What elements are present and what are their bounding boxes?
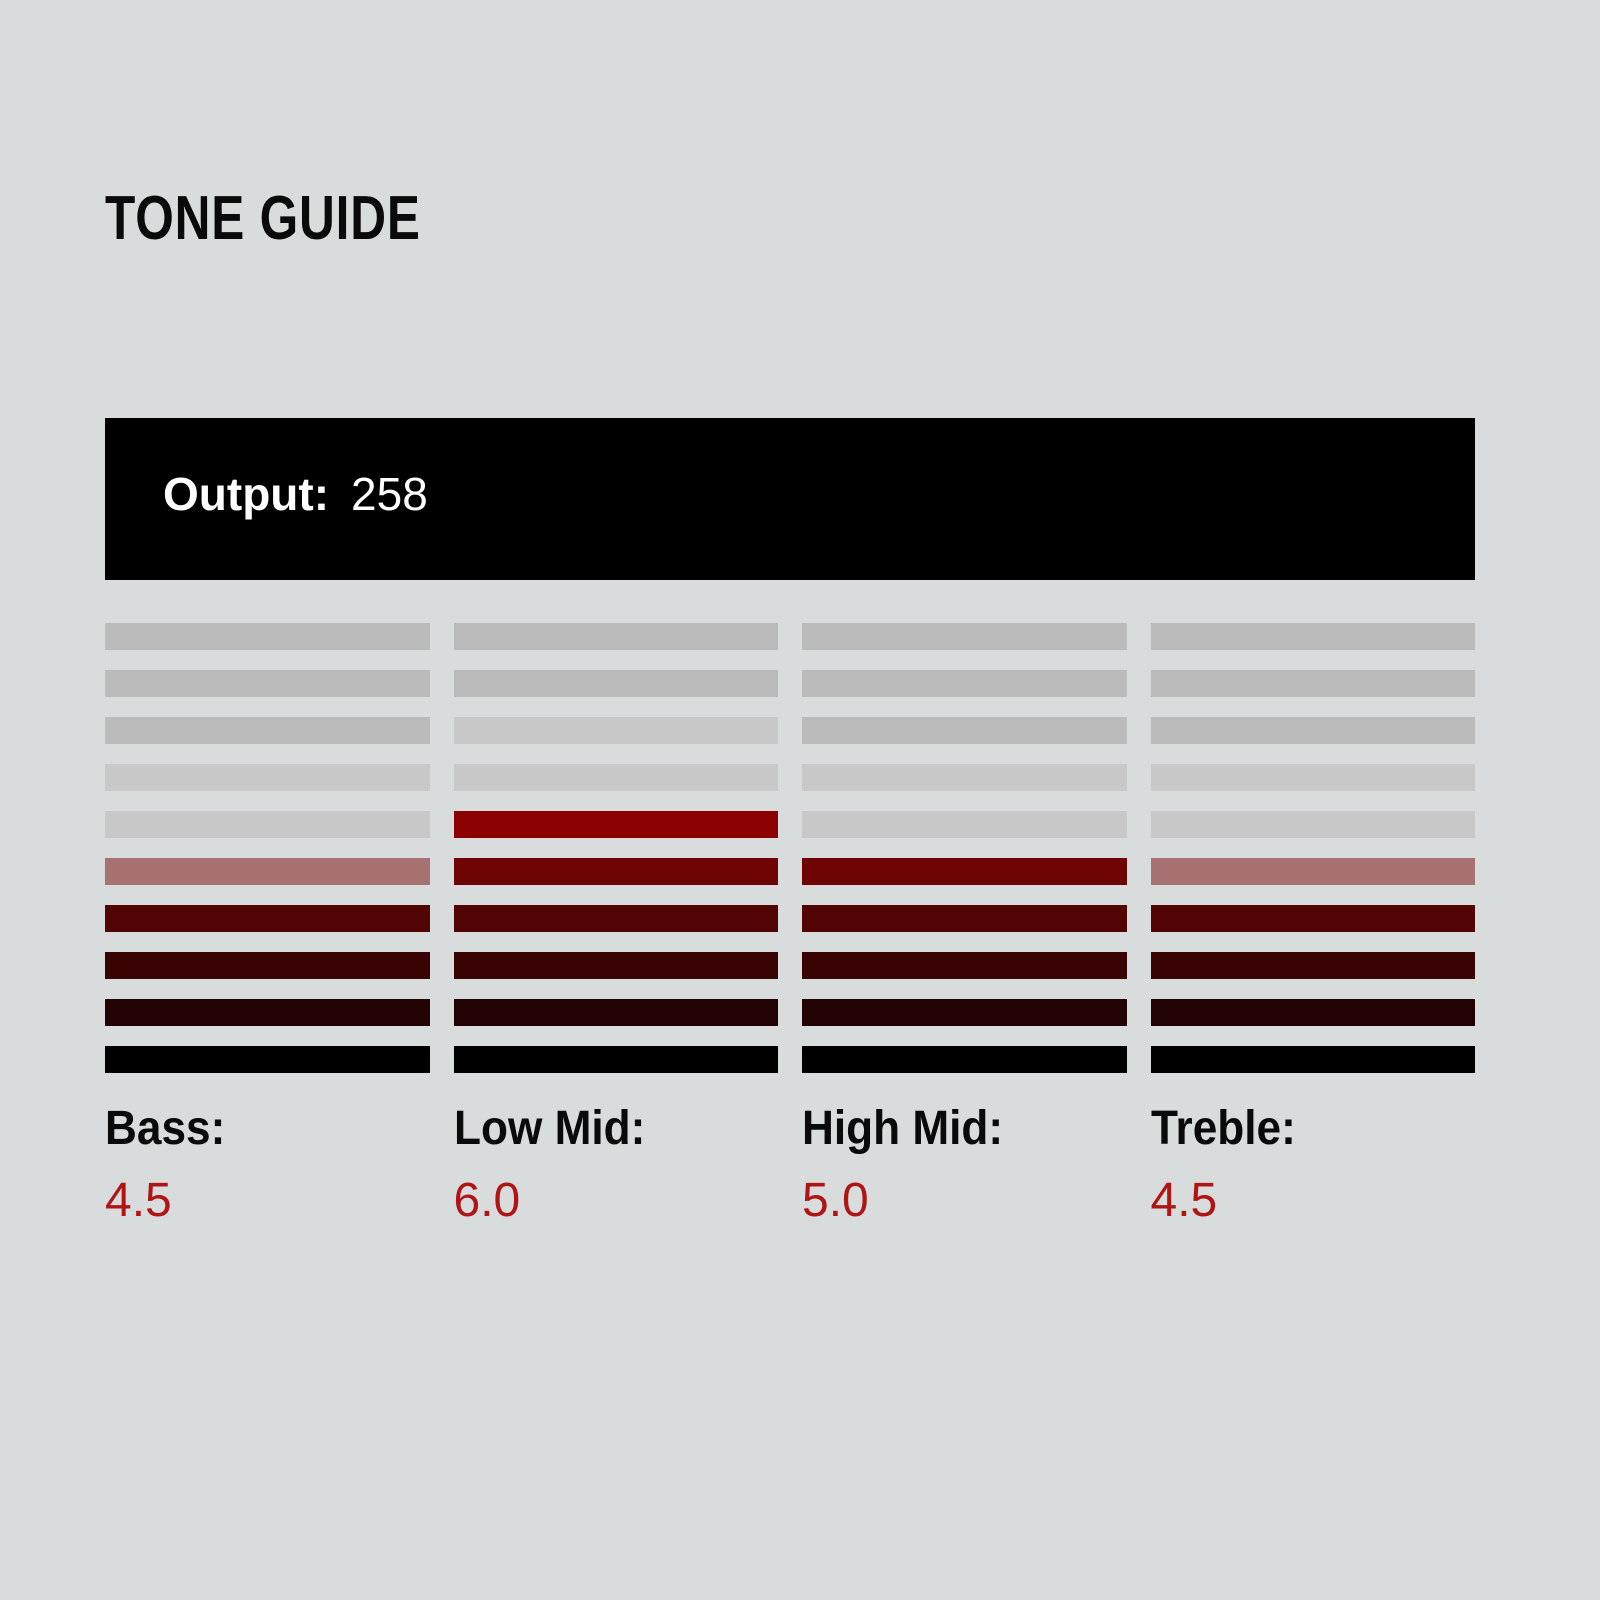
meter-segment-bass-9[interactable] [105,999,430,1026]
meter-segment-bass-4[interactable] [105,764,430,791]
meter-segment-treble-6[interactable] [1151,858,1476,885]
meter-segment-low-mid-7[interactable] [454,905,779,932]
band-value-bass: 4.5 [105,1172,430,1230]
band-name-low-mid: Low Mid: [454,1100,753,1158]
meter-segment-bass-6[interactable] [105,858,430,885]
band-value-high-mid: 5.0 [802,1172,1127,1230]
page-title: TONE GUIDE [105,184,421,254]
meter-segment-low-mid-5[interactable] [454,811,779,838]
meter-segment-low-mid-6[interactable] [454,858,779,885]
meter-column-treble[interactable] [1151,623,1476,1073]
band-name-high-mid: High Mid: [802,1100,1101,1158]
band-value-low-mid: 6.0 [454,1172,779,1230]
meter-segment-high-mid-10[interactable] [802,1046,1127,1073]
output-label: Output: [163,468,329,520]
meter-column-high-mid[interactable] [802,623,1127,1073]
meter-segment-treble-1[interactable] [1151,623,1476,650]
band-name-treble: Treble: [1151,1100,1450,1158]
meter-segment-high-mid-2[interactable] [802,670,1127,697]
meter-segment-high-mid-8[interactable] [802,952,1127,979]
output-display-panel: Output: 258 [105,418,1475,580]
meter-segment-bass-7[interactable] [105,905,430,932]
meter-segment-high-mid-1[interactable] [802,623,1127,650]
meter-segment-bass-5[interactable] [105,811,430,838]
meter-segment-low-mid-3[interactable] [454,717,779,744]
meter-segment-high-mid-5[interactable] [802,811,1127,838]
output-value: 258 [351,468,428,520]
meter-segment-treble-4[interactable] [1151,764,1476,791]
meter-segment-treble-10[interactable] [1151,1046,1476,1073]
meter-column-low-mid[interactable] [454,623,779,1073]
meter-segment-high-mid-3[interactable] [802,717,1127,744]
meter-segment-treble-5[interactable] [1151,811,1476,838]
meter-segment-high-mid-7[interactable] [802,905,1127,932]
meter-segment-high-mid-9[interactable] [802,999,1127,1026]
meter-segment-treble-7[interactable] [1151,905,1476,932]
label-column-bass: Bass:4.5 [105,1100,430,1230]
band-name-bass: Bass: [105,1100,404,1158]
meter-column-bass[interactable] [105,623,430,1073]
meter-segment-bass-8[interactable] [105,952,430,979]
meter-segment-high-mid-4[interactable] [802,764,1127,791]
band-value-treble: 4.5 [1151,1172,1476,1230]
meter-segment-bass-2[interactable] [105,670,430,697]
label-column-low-mid: Low Mid:6.0 [454,1100,779,1230]
meter-segment-low-mid-4[interactable] [454,764,779,791]
tone-guide-panel: TONE GUIDE Output: 258 Bass:4.5Low Mid:6… [0,0,1600,1600]
eq-meter-grid [105,623,1475,1073]
meter-segment-treble-3[interactable] [1151,717,1476,744]
label-column-treble: Treble:4.5 [1151,1100,1476,1230]
meter-segment-low-mid-9[interactable] [454,999,779,1026]
meter-segment-treble-9[interactable] [1151,999,1476,1026]
meter-segment-treble-8[interactable] [1151,952,1476,979]
label-column-high-mid: High Mid:5.0 [802,1100,1127,1230]
meter-segment-low-mid-1[interactable] [454,623,779,650]
meter-segment-bass-3[interactable] [105,717,430,744]
meter-segment-bass-1[interactable] [105,623,430,650]
meter-segment-low-mid-2[interactable] [454,670,779,697]
meter-segment-high-mid-6[interactable] [802,858,1127,885]
eq-label-row: Bass:4.5Low Mid:6.0High Mid:5.0Treble:4.… [105,1100,1475,1230]
meter-segment-low-mid-10[interactable] [454,1046,779,1073]
meter-segment-low-mid-8[interactable] [454,952,779,979]
output-readout: Output: 258 [163,468,428,520]
meter-segment-treble-2[interactable] [1151,670,1476,697]
meter-segment-bass-10[interactable] [105,1046,430,1073]
